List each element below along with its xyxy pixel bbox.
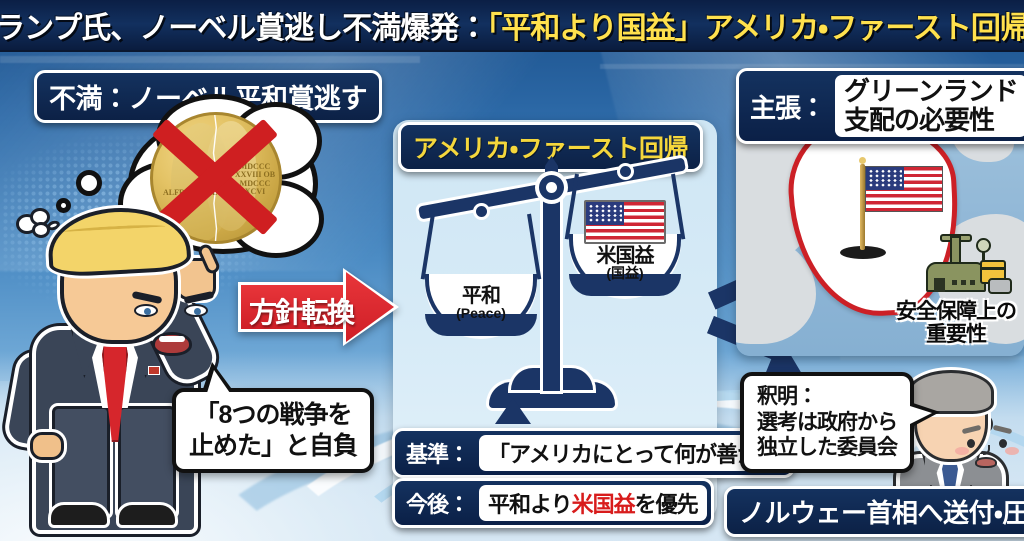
headline-bar: トランプ氏、ノーベル賞逃し不満爆発：「平和より国益」アメリカ・ファースト回帰へ <box>0 0 1024 52</box>
scale-column <box>543 186 560 391</box>
official-speech-line-3: 独立した委員会 <box>757 435 897 461</box>
page-title-yellow: 「平和より国益」アメリカ・ファースト回帰へ <box>487 12 1024 45</box>
military-base-icon <box>918 234 1010 302</box>
row-criterion: 基準： 「アメリカにとって何が善か」 <box>392 428 795 478</box>
trump-eye <box>134 304 158 317</box>
official-eye <box>999 439 1007 448</box>
background-stripe <box>0 56 420 63</box>
row-future-key: 今後： <box>399 485 474 521</box>
trump-hair <box>46 204 191 277</box>
row-future-value: 平和より米国益を優先 <box>479 485 707 521</box>
greenland-caption: 安全保障上の 重要性 <box>886 300 1024 346</box>
speech-tail-inner <box>207 370 230 393</box>
page-title: トランプ氏、ノーベル賞逃し不満爆発：「平和より国益」アメリカ・ファースト回帰へ <box>0 3 1024 47</box>
pan-label-peace-sub: (Peace) <box>456 306 506 320</box>
trump-speech-bubble: 「8つの戦争を 止めた」と自負 <box>172 388 374 473</box>
greenland-caption-line-1: 安全保障上の <box>886 300 1024 323</box>
flag-pin-icon <box>148 366 160 375</box>
trump-eyebrow <box>132 291 163 304</box>
pan-label-peace-main: 平和 <box>456 286 506 306</box>
row-future-value-inner: 平和より米国益を優先 <box>488 487 698 519</box>
row-claim-line-2: 支配の必要性 <box>844 106 994 135</box>
trump-speech-line-1: 「8つの戦争を <box>189 400 357 431</box>
official-mouth <box>975 457 997 468</box>
row-future-post: を優先 <box>635 492 698 517</box>
trump-leg <box>118 406 176 516</box>
pan-dish: 米国益 (国益) <box>569 234 681 296</box>
pan-label-peace: 平和 (Peace) <box>456 286 506 320</box>
page-title-white: トランプ氏、ノーベル賞逃し不満爆発： <box>0 12 487 45</box>
pan-label-ni-sub: (国益) <box>597 266 654 280</box>
label-norway-pressure-text: ノルウェー首相へ送付・圧力 <box>739 493 1024 530</box>
flag-canton <box>866 167 904 190</box>
upward-pointer-icon <box>495 398 531 424</box>
official-nose <box>983 445 990 455</box>
us-flag-icon <box>584 200 666 244</box>
official-speech-bubble: 釈明： 選考は政府から 独立した委員会 <box>740 372 914 473</box>
official-speech-line-2: 選考は政府から <box>757 410 897 436</box>
official-cheek <box>1005 447 1019 455</box>
radar-dish-icon <box>976 238 991 253</box>
row-claim: 主張： グリーンランド 支配の必要性 <box>736 68 1024 144</box>
trump-character <box>8 206 220 541</box>
base-door <box>934 278 945 292</box>
base-window <box>952 280 957 285</box>
trump-left-hand <box>30 432 64 460</box>
base-hangar <box>926 262 986 292</box>
policy-shift-arrow: 方針転換 <box>238 268 398 346</box>
row-claim-line-1: グリーンランド <box>844 77 1018 106</box>
row-criterion-key: 基準： <box>399 435 474 471</box>
row-future-pre: 平和より <box>488 492 572 517</box>
trump-leg <box>52 406 110 516</box>
scale-pivot <box>539 175 564 200</box>
official-eye <box>967 439 975 448</box>
row-future-emphasis: 米国益 <box>572 492 635 517</box>
trump-speech-line-2: 止めた」と自負 <box>189 431 357 462</box>
trump-mouth <box>152 332 192 356</box>
trump-shoe <box>116 502 178 528</box>
speech-tail-inner <box>910 406 932 424</box>
resource-mineral-icon <box>988 278 1012 294</box>
us-flag-icon <box>865 166 943 212</box>
official-cheek <box>955 447 969 455</box>
pan-dish: 平和 (Peace) <box>425 274 537 336</box>
greenland-caption-line-2: 重要性 <box>886 323 1024 346</box>
balance-scale: 平和 (Peace) 米国益 (国益) <box>393 160 717 420</box>
official-eyebrow <box>962 425 982 434</box>
thought-bubble-dot <box>76 170 102 196</box>
official-eyebrow <box>993 425 1013 434</box>
row-claim-value: グリーンランド 支配の必要性 <box>835 75 1024 137</box>
trump-eye <box>184 304 208 317</box>
policy-shift-label: 方針転換 <box>246 291 356 331</box>
row-claim-key: 主張： <box>743 75 830 137</box>
pan-label-national-interest: 米国益 (国益) <box>597 246 654 280</box>
pan-strings <box>425 214 537 274</box>
scale-pan-national-interest: 米国益 (国益) <box>569 174 681 296</box>
trump-shoe <box>48 502 110 528</box>
official-speech-line-1: 釈明： <box>757 384 897 410</box>
label-norway-pressure: ノルウェー首相へ送付・圧力 <box>724 486 1024 537</box>
infographic-stage: トランプ氏、ノーベル賞逃し不満爆発：「平和より国益」アメリカ・ファースト回帰へ … <box>0 0 1024 541</box>
base-window <box>961 280 966 285</box>
pan-label-ni-main: 米国益 <box>597 246 654 266</box>
base-window <box>970 280 975 285</box>
row-future: 今後： 平和より米国益を優先 <box>392 478 714 528</box>
scale-pan-peace: 平和 (Peace) <box>425 214 537 336</box>
flag-canton <box>586 202 624 225</box>
